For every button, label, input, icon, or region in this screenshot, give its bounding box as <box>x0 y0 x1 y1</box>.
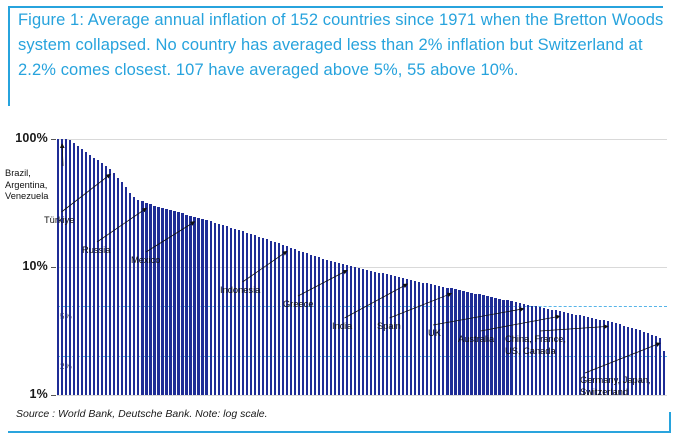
bar <box>210 221 212 395</box>
bar <box>149 204 151 395</box>
bar <box>201 219 203 395</box>
bar <box>157 207 159 395</box>
bar <box>258 237 260 395</box>
bar <box>254 235 256 395</box>
bar <box>659 338 661 395</box>
bar <box>418 282 420 395</box>
frame-left-rule <box>8 6 10 106</box>
annotation-turkiye: Türkiye <box>44 215 74 227</box>
bar <box>189 216 191 395</box>
bar <box>169 210 171 395</box>
bar <box>398 277 400 395</box>
bar <box>370 271 372 395</box>
bar <box>663 351 665 395</box>
bar <box>61 139 63 395</box>
bar <box>390 275 392 395</box>
bar <box>410 280 412 395</box>
bar <box>113 173 115 395</box>
bar <box>165 209 167 395</box>
bar <box>101 163 103 395</box>
figure-title: Figure 1: Average annual inflation of 15… <box>18 8 666 83</box>
bar <box>378 273 380 395</box>
bar <box>205 220 207 395</box>
bar <box>177 212 179 395</box>
bar <box>274 242 276 395</box>
bar <box>89 155 91 395</box>
bar <box>490 297 492 395</box>
bar <box>85 152 87 395</box>
bar <box>450 288 452 395</box>
bar <box>306 253 308 395</box>
inflation-figure: Figure 1: Average annual inflation of 15… <box>0 0 679 442</box>
bar <box>109 169 111 395</box>
annotation-spain: Spain <box>377 321 401 333</box>
bar <box>290 248 292 395</box>
bar <box>366 270 368 395</box>
bar <box>422 283 424 395</box>
chart-plot-area: 100%10%5%2%1% Brazil, Argentina, Venezue… <box>0 120 679 405</box>
bar <box>406 279 408 395</box>
bar <box>141 201 143 395</box>
bar <box>137 200 139 395</box>
bar <box>326 260 328 395</box>
bar <box>214 223 216 395</box>
bar <box>97 160 99 395</box>
y-axis-label-1pct: 1% <box>0 387 48 401</box>
bar <box>655 336 657 395</box>
annotation-china-france-us-canada: China, France, US, Canada <box>505 334 566 357</box>
frame-right-rule <box>669 412 671 432</box>
bar <box>314 256 316 395</box>
bar <box>486 296 488 395</box>
bar <box>494 298 496 395</box>
annotation-mexico: Mexico <box>131 255 160 267</box>
bar <box>354 267 356 395</box>
bar <box>250 234 252 395</box>
bar <box>302 252 304 395</box>
bar <box>65 139 67 395</box>
annotation-uk: UK <box>428 328 441 340</box>
bar <box>430 284 432 395</box>
bar <box>282 245 284 395</box>
bar <box>394 276 396 395</box>
bar <box>322 259 324 395</box>
bar <box>117 178 119 395</box>
bar <box>133 197 135 395</box>
bar <box>446 288 448 395</box>
bar <box>294 249 296 395</box>
bar <box>310 255 312 395</box>
bar <box>442 287 444 395</box>
annotation-australia: Australia <box>458 334 494 346</box>
annotation-greece: Greece <box>283 299 314 311</box>
bar <box>298 251 300 395</box>
bar <box>69 140 71 395</box>
bar <box>434 285 436 395</box>
bar <box>230 228 232 395</box>
bar <box>73 143 75 395</box>
bar <box>238 230 240 395</box>
bar <box>362 269 364 395</box>
annotation-india: India <box>332 321 352 333</box>
bar <box>129 193 131 395</box>
bar <box>266 239 268 395</box>
bar <box>57 139 59 395</box>
bar <box>454 289 456 395</box>
y-axis-tick <box>51 139 56 140</box>
bar <box>197 218 199 395</box>
bar <box>161 208 163 395</box>
bar <box>262 238 264 395</box>
bar <box>438 286 440 395</box>
bar <box>234 229 236 395</box>
bar <box>374 272 376 395</box>
bar <box>193 217 195 395</box>
bar <box>414 281 416 395</box>
bar <box>571 314 573 395</box>
bar <box>145 203 147 395</box>
bar <box>242 231 244 395</box>
source-note: Source : World Bank, Deutsche Bank. Note… <box>16 408 268 420</box>
annotation-brazil-argentina-venezuela: Brazil, Argentina, Venezuela <box>5 168 48 203</box>
bar <box>218 224 220 395</box>
bar <box>358 268 360 395</box>
y-axis-label-100pct: 100% <box>0 131 48 145</box>
bar <box>77 146 79 395</box>
annotation-indonesia: Indonesia <box>220 285 260 297</box>
bar <box>498 299 500 395</box>
bar <box>270 241 272 395</box>
bar <box>278 243 280 395</box>
bar <box>651 335 653 395</box>
bar <box>318 257 320 395</box>
bar <box>246 233 248 395</box>
bar <box>125 187 127 395</box>
bar <box>575 315 577 395</box>
bar <box>226 226 228 395</box>
y-axis-label-10pct: 10% <box>0 259 48 273</box>
y-axis-tick <box>51 267 56 268</box>
bar <box>121 182 123 395</box>
y-axis-tick <box>51 395 56 396</box>
annotation-russia: Russia <box>82 245 110 257</box>
bar <box>173 211 175 395</box>
bar <box>81 149 83 395</box>
bar <box>105 166 107 395</box>
bar <box>386 274 388 395</box>
frame-bottom-rule <box>8 431 671 433</box>
bar <box>185 215 187 395</box>
bar <box>382 273 384 395</box>
bar <box>286 246 288 395</box>
annotation-germany-japan-switzerland: Germany, Japan, Switzerland <box>580 375 651 398</box>
bar <box>93 158 95 395</box>
bar <box>222 225 224 395</box>
bar <box>181 213 183 395</box>
bar <box>402 278 404 395</box>
bar <box>567 313 569 395</box>
bar <box>153 206 155 395</box>
